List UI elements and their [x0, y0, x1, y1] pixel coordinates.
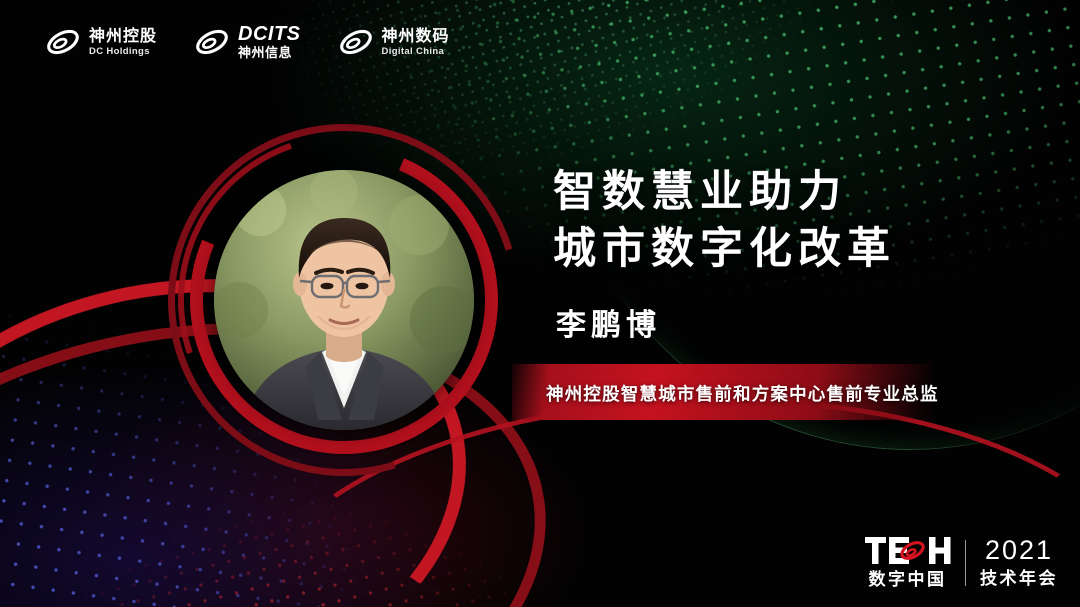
logo-dcits[interactable]: DCITS 神州信息 — [195, 24, 301, 60]
logo-text-block: DCITS 神州信息 — [238, 24, 301, 60]
logo-name-en: DC Holdings — [89, 47, 157, 57]
logo-name-cn: 神州信息 — [238, 47, 301, 60]
event-year: 2021 — [985, 537, 1053, 564]
logo-text-block: 神州控股 DC Holdings — [89, 28, 157, 57]
event-logo-divider — [965, 540, 967, 586]
tech-sub-label: 数字中国 — [869, 572, 947, 589]
logo-name-latin: DCITS — [238, 24, 301, 44]
tech-wordmark-icon — [865, 536, 951, 565]
speaker-name: 李鹏博 — [556, 300, 661, 344]
logo-text-block: 神州数码 Digital China — [382, 28, 450, 57]
swoosh-icon — [46, 27, 80, 57]
logo-digital-china[interactable]: 神州数码 Digital China — [339, 27, 450, 57]
speaker-photo — [214, 170, 474, 430]
logo-dc-holdings[interactable]: 神州控股 DC Holdings — [46, 27, 157, 57]
portrait-module — [168, 124, 520, 476]
event-logo-tech-block: 数字中国 — [865, 536, 951, 589]
event-year-sub-label: 技术年会 — [980, 571, 1058, 588]
logo-name-cn: 神州控股 — [89, 28, 157, 44]
partner-logo-bar: 神州控股 DC Holdings DCITS 神州信息 — [46, 24, 488, 60]
speaker-role: 神州控股智慧城市售前和方案中心售前专业总监 — [546, 381, 939, 406]
event-logo-year-block: 2021 技术年会 — [980, 537, 1058, 588]
page-title: 智数慧业助力 城市数字化改革 — [553, 164, 896, 278]
slide-canvas: 神州控股 DC Holdings DCITS 神州信息 — [0, 0, 1080, 607]
swoosh-icon — [339, 27, 373, 57]
swoosh-icon — [195, 27, 229, 57]
event-logo[interactable]: 数字中国 2021 技术年会 — [865, 536, 1059, 589]
logo-name-en: Digital China — [382, 47, 450, 57]
logo-name-cn: 神州数码 — [382, 28, 450, 44]
